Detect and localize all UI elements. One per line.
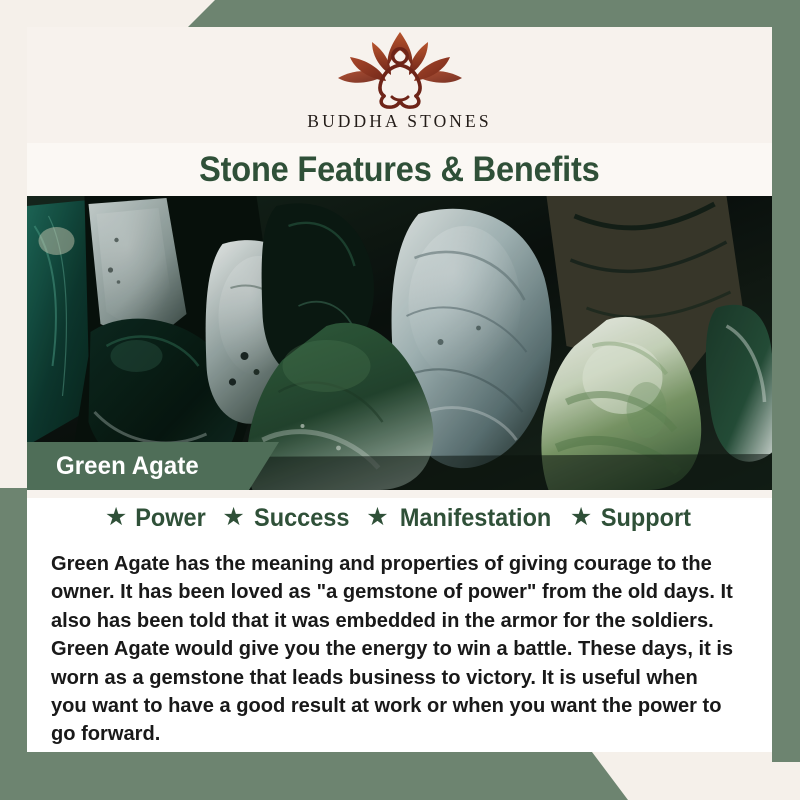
description-text: Green Agate has the meaning and properti…: [51, 550, 736, 749]
feature-item-manifestation: ★ Manifestation: [366, 504, 556, 533]
stone-name-label: Green Agate: [56, 452, 199, 481]
stone-name-tag: Green Agate: [27, 442, 279, 490]
brand-logo: BUDDHA STONES: [27, 27, 772, 143]
star-icon: ★: [105, 505, 127, 530]
page-title: Stone Features & Benefits: [199, 150, 600, 190]
lotus-meditation-icon: [324, 29, 476, 109]
frame-border-top: [0, 0, 800, 27]
feature-label: Manifestation: [400, 504, 551, 533]
star-icon: ★: [222, 505, 244, 530]
frame-border-right: [772, 0, 800, 762]
feature-label: Success: [254, 504, 349, 533]
star-icon: ★: [366, 505, 388, 530]
description-panel: ★ Power ★ Success ★ Manifestation ★ Supp…: [27, 490, 772, 752]
feature-list: ★ Power ★ Success ★ Manifestation ★ Supp…: [27, 504, 772, 533]
feature-item-success: ★ Success: [222, 504, 352, 533]
title-band: Stone Features & Benefits: [27, 143, 772, 196]
header: BUDDHA STONES Stone Features & Benefits: [27, 27, 772, 196]
page-content: BUDDHA STONES Stone Features & Benefits: [27, 27, 772, 752]
infographic-frame: BUDDHA STONES Stone Features & Benefits: [0, 0, 800, 800]
feature-item-power: ★ Power: [105, 504, 208, 533]
feature-label: Support: [601, 504, 691, 533]
frame-border-bottom: [0, 752, 800, 800]
feature-label: Power: [136, 504, 207, 533]
feature-item-support: ★ Support: [570, 504, 694, 533]
brand-name: BUDDHA STONES: [307, 111, 491, 132]
stone-photo: Green Agate: [27, 196, 772, 490]
star-icon: ★: [570, 505, 592, 530]
panel-top-strip: [27, 490, 772, 498]
